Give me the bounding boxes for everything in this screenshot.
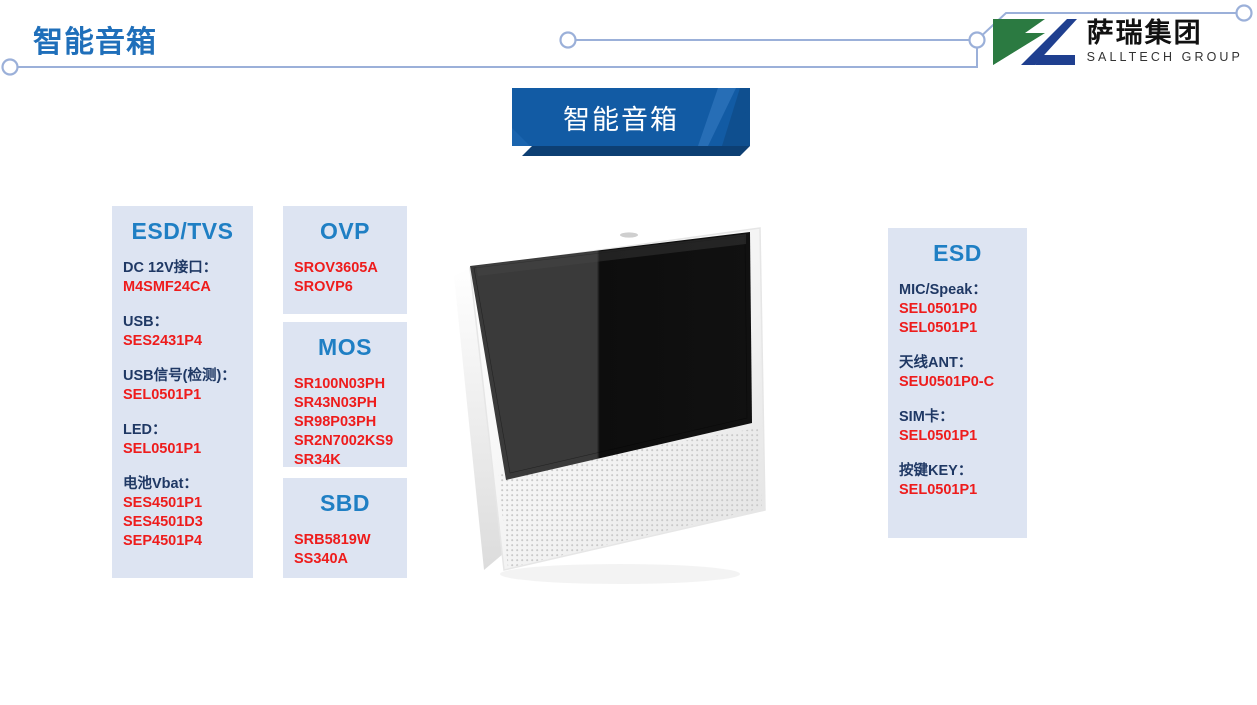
part-number: SR98P03PH xyxy=(294,413,396,432)
group-label: DC 12V接口： xyxy=(123,259,242,278)
section-banner: 智能音箱 xyxy=(512,88,750,156)
group-label: 电池Vbat： xyxy=(123,475,242,494)
box-title: SBD xyxy=(294,490,396,517)
callout-box-ovp: OVP SROV3605A SROVP6 xyxy=(283,206,407,314)
group-label: LED： xyxy=(123,421,242,440)
part-group: USB信号(检测)： SEL0501P1 xyxy=(123,367,242,405)
part-number: SRB5819W xyxy=(294,531,396,550)
part-group: 按键KEY： SEL0501P1 xyxy=(899,462,1016,500)
logo-name-cn: 萨瑞集团 xyxy=(1087,20,1243,47)
salltech-logo-mark xyxy=(991,17,1077,67)
company-logo: 萨瑞集团 SALLTECH GROUP xyxy=(991,14,1243,70)
group-label: SIM卡： xyxy=(899,408,1016,427)
part-number: SES2431P4 xyxy=(123,332,242,351)
product-image-smart-speaker xyxy=(440,218,790,598)
part-group: MIC/Speak： SEL0501P0 SEL0501P1 xyxy=(899,281,1016,338)
box-title: ESD xyxy=(899,240,1016,267)
part-group: SR100N03PH SR43N03PH SR98P03PH SR2N7002K… xyxy=(294,375,396,470)
group-label: USB： xyxy=(123,313,242,332)
part-number: SR2N7002KS9 xyxy=(294,432,396,451)
part-number: M4SMF24CA xyxy=(123,278,242,297)
part-group: SIM卡： SEL0501P1 xyxy=(899,408,1016,446)
part-number: SEU0501P0-C xyxy=(899,373,1016,392)
box-title: OVP xyxy=(294,218,396,245)
callout-box-mos: MOS SR100N03PH SR43N03PH SR98P03PH SR2N7… xyxy=(283,322,407,467)
part-number: SR34K xyxy=(294,451,396,470)
part-number: SROVP6 xyxy=(294,278,396,297)
part-number: SR100N03PH xyxy=(294,375,396,394)
group-label: 按键KEY： xyxy=(899,462,1016,481)
part-number: SEL0501P1 xyxy=(899,481,1016,500)
page-header: 智能音箱 萨瑞集团 SALLTECH GROUP xyxy=(0,0,1257,88)
logo-text: 萨瑞集团 SALLTECH GROUP xyxy=(1087,20,1243,64)
logo-name-en: SALLTECH GROUP xyxy=(1087,51,1243,64)
part-number: SR43N03PH xyxy=(294,394,396,413)
part-number: SEL0501P1 xyxy=(899,427,1016,446)
part-group: USB： SES2431P4 xyxy=(123,313,242,351)
box-title: ESD/TVS xyxy=(123,218,242,245)
callout-box-sbd: SBD SRB5819W SS340A xyxy=(283,478,407,578)
callout-box-esd-tvs: ESD/TVS DC 12V接口： M4SMF24CA USB： SES2431… xyxy=(112,206,253,578)
part-number: SES4501P1 xyxy=(123,494,242,513)
part-number: SS340A xyxy=(294,550,396,569)
banner-label: 智能音箱 xyxy=(512,88,730,146)
part-number: SEL0501P1 xyxy=(899,319,1016,338)
part-group: SROV3605A SROVP6 xyxy=(294,259,396,297)
part-group: 电池Vbat： SES4501P1 SES4501D3 SEP4501P4 xyxy=(123,475,242,551)
part-number: SEL0501P0 xyxy=(899,300,1016,319)
part-group: LED： SEL0501P1 xyxy=(123,421,242,459)
group-label: 天线ANT： xyxy=(899,354,1016,373)
part-number: SEL0501P1 xyxy=(123,440,242,459)
part-group: SRB5819W SS340A xyxy=(294,531,396,569)
part-number: SEL0501P1 xyxy=(123,386,242,405)
part-group: DC 12V接口： M4SMF24CA xyxy=(123,259,242,297)
callout-box-esd: ESD MIC/Speak： SEL0501P0 SEL0501P1 天线ANT… xyxy=(888,228,1027,538)
part-group: 天线ANT： SEU0501P0-C xyxy=(899,354,1016,392)
part-number: SEP4501P4 xyxy=(123,532,242,551)
box-title: MOS xyxy=(294,334,396,361)
part-number: SES4501D3 xyxy=(123,513,242,532)
group-label: MIC/Speak： xyxy=(899,281,1016,300)
page-title: 智能音箱 xyxy=(33,17,157,61)
group-label: USB信号(检测)： xyxy=(123,367,242,386)
part-number: SROV3605A xyxy=(294,259,396,278)
